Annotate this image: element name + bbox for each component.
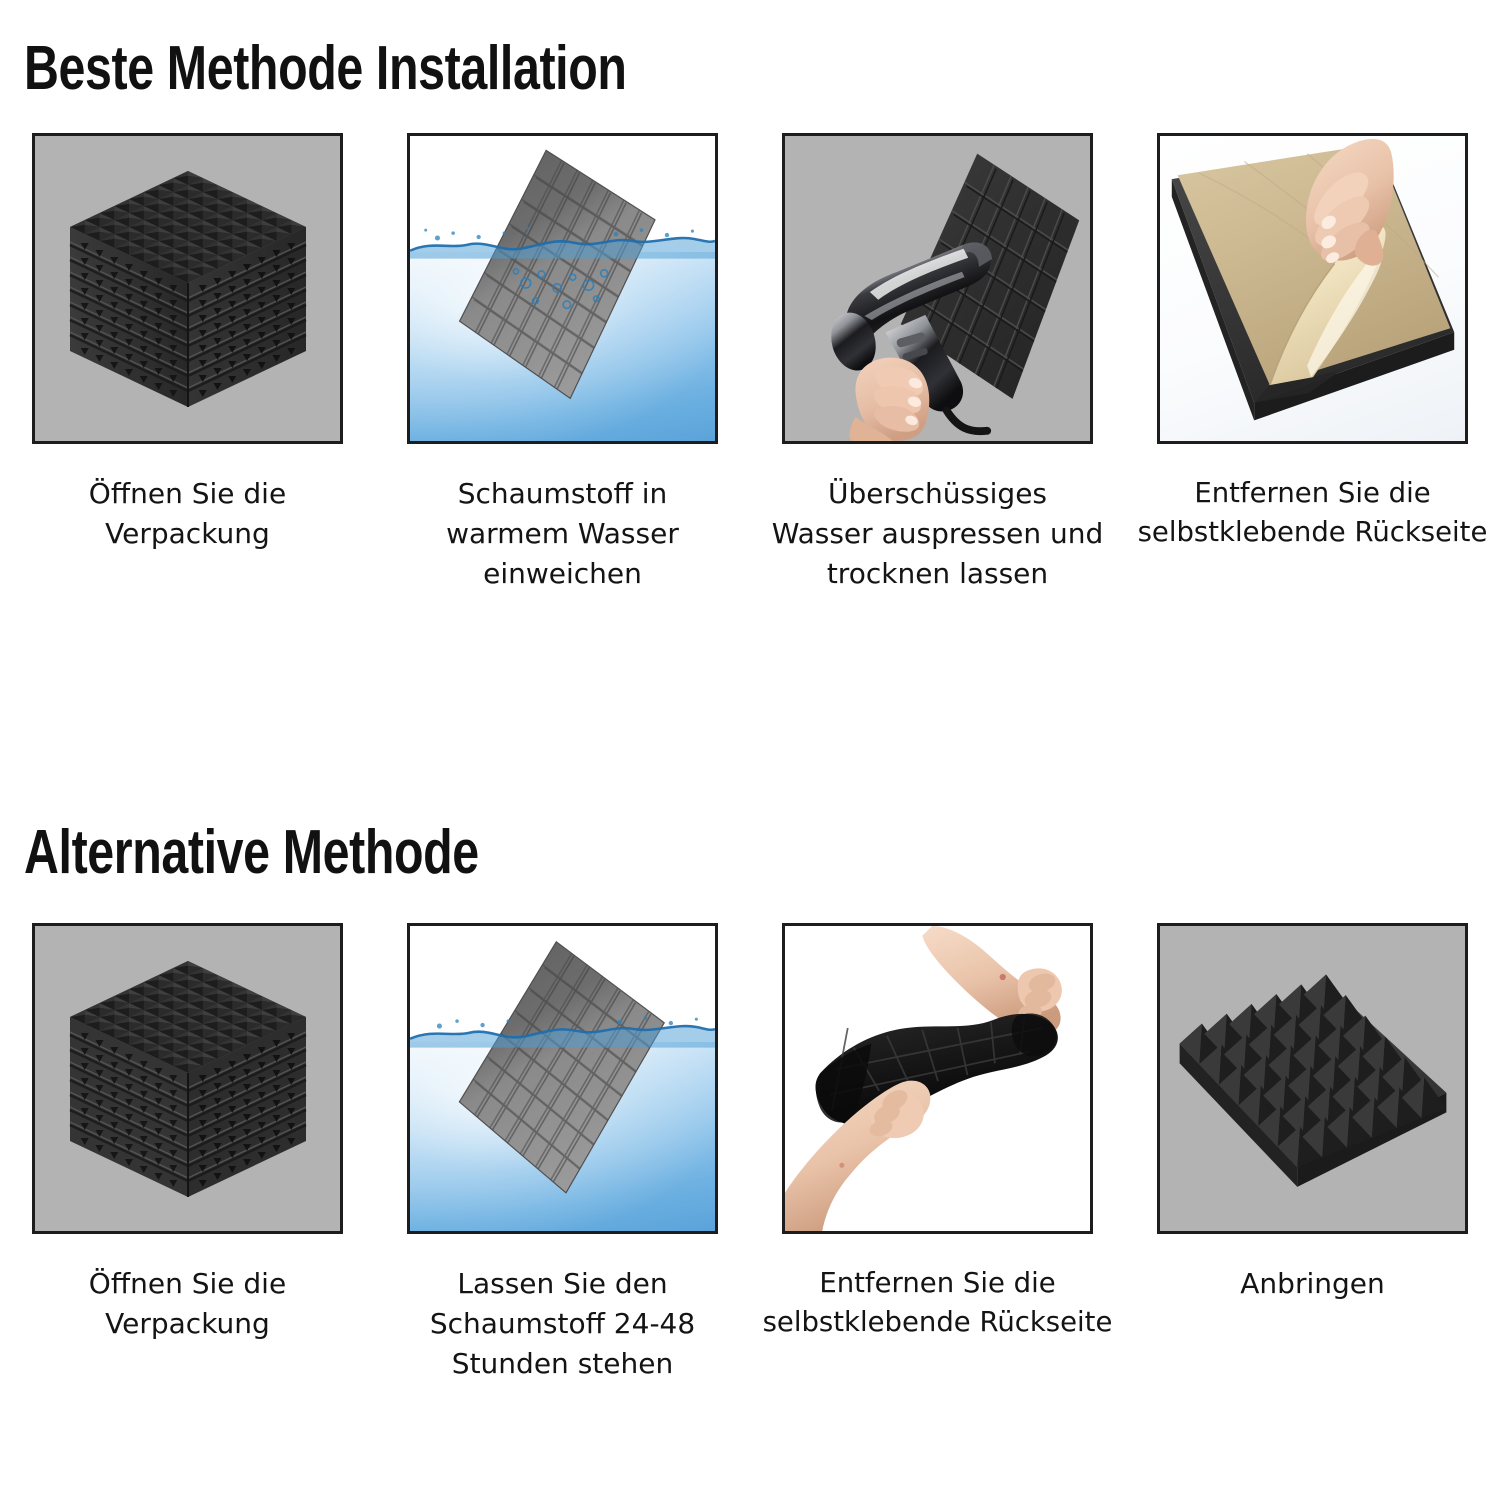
single-panel-scene	[1160, 926, 1465, 1231]
water-foam-svg-alt	[410, 926, 715, 1231]
step-caption: Öffnen Sie die Verpackung	[10, 1264, 365, 1344]
thumbnail-foam-in-water	[407, 133, 718, 444]
step-caption: Anbringen	[1135, 1264, 1490, 1304]
step-caption: Entfernen Sie die selbstklebende Rücksei…	[752, 1264, 1124, 1342]
panel-pyramids	[1180, 975, 1447, 1168]
step-card-squeeze-and-dry: Überschüssiges Wasser auspressen und tro…	[750, 133, 1125, 593]
steps-row-alternative-method: Öffnen Sie die Verpackung	[0, 923, 1500, 1383]
step-card-remove-backing: Entfernen Sie die selbstklebende Rücksei…	[1125, 133, 1500, 593]
step-card-let-stand: Lassen Sie den Schaumstoff 24-48 Stunden…	[375, 923, 750, 1383]
thumbnail-single-foam-panel	[1157, 923, 1468, 1234]
step-card-wring-foam: Entfernen Sie die selbstklebende Rücksei…	[750, 923, 1125, 1383]
dryer-scene	[785, 136, 1090, 441]
infographic-page: Beste Methode Installation	[0, 0, 1500, 1500]
wring-scene	[785, 926, 1090, 1231]
foam-panel-tilted-alt	[449, 935, 676, 1200]
step-caption: Lassen Sie den Schaumstoff 24-48 Stunden…	[385, 1264, 740, 1383]
section-title-alternative-method: Alternative Methode	[24, 822, 479, 884]
step-card-attach: Anbringen	[1125, 923, 1500, 1383]
foam-panel-tilted	[443, 140, 673, 409]
step-caption: Schaumstoff in warmem Wasser einweichen	[385, 474, 740, 593]
hair-dryer-svg	[785, 136, 1090, 441]
step-card-open-package: Öffnen Sie die Verpackung	[0, 133, 375, 593]
hand-gripping-dryer	[849, 358, 929, 441]
thumbnail-foam-cube-stack	[32, 133, 343, 444]
skin-mark	[1000, 974, 1006, 980]
step-caption: Überschüssiges Wasser auspressen und tro…	[760, 474, 1115, 593]
thumbnail-peel-backing	[1157, 133, 1468, 444]
peel-scene	[1160, 136, 1465, 441]
foam-cube-illustration	[63, 165, 313, 413]
thumbnail-foam-in-water-alt	[407, 923, 718, 1234]
water-scene	[410, 136, 715, 441]
foam-cube-icon	[63, 165, 313, 413]
foam-cube-icon-alt	[63, 955, 313, 1203]
thumbnail-hair-dryer-foam	[782, 133, 1093, 444]
thumbnail-foam-cube-stack-alt	[32, 923, 343, 1234]
step-card-soak-in-warm-water: Schaumstoff in warmem Wasser einweichen	[375, 133, 750, 593]
steps-row-best-method: Öffnen Sie die Verpackung	[0, 133, 1500, 593]
thumbnail-wringing-foam	[782, 923, 1093, 1234]
water-scene-alt	[410, 926, 715, 1231]
foam-cube-illustration-alt	[63, 955, 313, 1203]
single-foam-panel-svg	[1160, 926, 1465, 1231]
wringing-hands-svg	[785, 926, 1090, 1231]
section-title-best-method: Beste Methode Installation	[24, 38, 627, 100]
step-caption: Entfernen Sie die selbstklebende Rücksei…	[1127, 474, 1499, 552]
water-foam-svg	[410, 136, 715, 441]
skin-mark-left	[839, 1163, 844, 1168]
step-card-open-package-alt: Öffnen Sie die Verpackung	[0, 923, 375, 1383]
peel-backing-svg	[1160, 136, 1465, 441]
step-caption: Öffnen Sie die Verpackung	[10, 474, 365, 554]
